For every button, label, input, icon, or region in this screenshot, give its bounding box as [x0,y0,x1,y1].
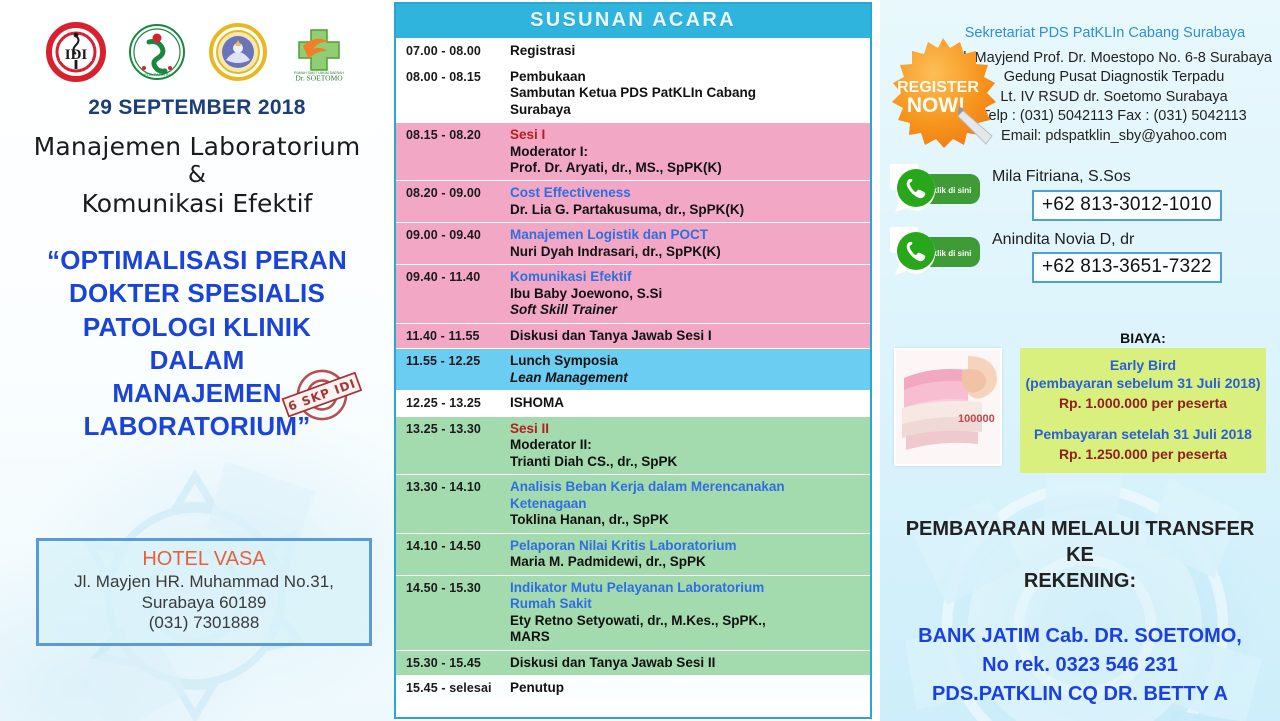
headline-line: DALAM [16,344,378,377]
schedule-line: Nuri Dyah Indrasari, dr., SpPK(K) [510,244,866,260]
event-theme: Manajemen Laboratorium & Komunikasi Efek… [0,132,394,218]
schedule-description: Manajemen Logistik dan POCTNuri Dyah Ind… [510,227,866,260]
whatsapp-badge-label: klik di sini [933,249,972,258]
schedule-table: SUSUNAN ACARA 07.00 - 08.00Registrasi08.… [394,2,872,719]
schedule-time: 15.30 - 15.45 [406,655,510,672]
schedule-line: Rumah Sakit [510,596,866,612]
schedule-line: Ety Retno Setyowati, dr., M.Kes., SpPK., [510,613,866,629]
late-payment-condition: Pembayaran setelah 31 Juli 2018 [1024,425,1262,443]
theme-ampersand: & [0,162,394,188]
fee-section: BIAYA: Early Bird (pembayaran sebelum 31… [1020,330,1266,473]
secretariat-line: Jl. Mayjend Prof. Dr. Moestopo No. 6-8 S… [952,49,1276,68]
schedule-row: 08.15 - 08.20Sesi IModerator I:Prof. Dr.… [396,123,870,181]
idi-logo: IDI [46,22,106,82]
schedule-line: Soft Skill Trainer [510,302,866,318]
schedule-line: Prof. Dr. Aryati, dr., MS., SpPK(K) [510,160,866,176]
schedule-description: Sesi IModerator I:Prof. Dr. Aryati, dr.,… [510,127,866,176]
schedule-line: Trianti Diah CS., dr., SpPK [510,454,866,470]
venue-phone: (031) 7301888 [45,613,363,634]
headline-line: MANAJEMEN [16,377,378,410]
schedule-line: Pembukaan [510,69,866,85]
schedule-line: Sambutan Ketua PDS PatKLIn Cabang [510,85,866,101]
transfer-heading-line-1: PEMBAYARAN MELALUI TRANSFER KE [898,516,1262,568]
schedule-line: Analisis Beban Kerja dalam Merencanakan [510,479,866,495]
schedule-line: Dr. Lia G. Partakusuma, dr., SpPK(K) [510,202,866,218]
schedule-line: Pelaporan Nilai Kritis Laboratorium [510,538,866,554]
schedule-time: 15.45 - selesai [406,680,510,697]
schedule-line: Lean Management [510,370,866,386]
schedule-description: Indikator Mutu Pelayanan LaboratoriumRum… [510,580,866,646]
bank-name: BANK JATIM Cab. DR. SOETOMO, [898,622,1262,651]
schedule-row: 12.25 - 13.25ISHOMA [396,391,870,417]
schedule-description: Diskusi dan Tanya Jawab Sesi I [510,328,866,344]
schedule-description: Lunch SymposiaLean Management [510,353,866,386]
headline-line: “OPTIMALISASI PERAN [16,244,378,277]
schedule-line: Sesi II [510,421,866,437]
schedule-time: 09.40 - 11.40 [406,269,510,286]
secretariat-line: Gedung Pusat Diagnostik Terpadu [952,68,1276,87]
schedule-line: Indikator Mutu Pelayanan Laboratorium [510,580,866,596]
bank-account-holder: PDS.PATKLIN CQ DR. BETTY A [898,680,1262,709]
schedule-row: 14.10 - 14.50Pelaporan Nilai Kritis Labo… [396,534,870,576]
schedule-description: Pelaporan Nilai Kritis LaboratoriumMaria… [510,538,866,571]
banknote-denomination: 100000 [958,413,995,425]
schedule-row: 13.25 - 13.30Sesi IIModerator II:Trianti… [396,417,870,475]
schedule-time: 11.55 - 12.25 [406,353,510,370]
schedule-time: 14.50 - 15.30 [406,580,510,597]
schedule-time: 09.00 - 09.40 [406,227,510,244]
schedule-time: 14.10 - 14.50 [406,538,510,555]
schedule-description: Sesi IIModerator II:Trianti Diah CS., dr… [510,421,866,470]
organizer-logos: IDI PDS PATKLIN [0,0,394,80]
schedule-row: 09.00 - 09.40Manajemen Logistik dan POCT… [396,223,870,265]
venue-box: HOTEL VASA Jl. Mayjen HR. Muhammad No.31… [36,538,372,646]
contact-item[interactable]: klik di sini Anindita Novia D, dr +62 81… [890,227,1280,284]
schedule-description: Penutup [510,680,866,696]
whatsapp-icon[interactable]: klik di sini [890,227,986,279]
soetomo-caption: Dr. SOETOMO [295,74,343,83]
schedule-line: Komunikasi Efektif [510,269,866,285]
schedule-row: 15.45 - selesaiPenutup [396,676,870,702]
schedule-line: Sesi I [510,127,866,143]
venue-address-line-1: Jl. Mayjen HR. Muhammad No.31, [45,572,363,593]
universitas-airlangga-logo [208,22,268,82]
schedule-row: 09.40 - 11.40Komunikasi EfektifIbu Baby … [396,265,870,323]
transfer-section: PEMBAYARAN MELALUI TRANSFER KE REKENING:… [880,516,1280,709]
left-panel: IDI PDS PATKLIN [0,0,394,721]
schedule-panel: SUSUNAN ACARA 07.00 - 08.00Registrasi08.… [394,0,880,721]
theme-line-1: Manajemen Laboratorium [0,132,394,161]
pds-patklin-logo: PDS PATKLIN [127,22,187,82]
schedule-time: 13.25 - 13.30 [406,421,510,438]
schedule-time: 07.00 - 08.00 [406,43,510,60]
whatsapp-badge-label: klik di sini [933,186,972,195]
event-date: 29 SEPTEMBER 2018 [0,96,394,120]
headline-line: LABORATORIUM” [16,410,378,443]
schedule-row: 13.30 - 14.10Analisis Beban Kerja dalam … [396,475,870,533]
schedule-line: Registrasi [510,43,866,59]
schedule-description: ISHOMA [510,395,866,411]
theme-line-2: Komunikasi Efektif [0,189,394,218]
schedule-line: Diskusi dan Tanya Jawab Sesi I [510,328,866,344]
event-headline: “OPTIMALISASI PERAN DOKTER SPESIALIS PAT… [16,244,378,444]
schedule-description: Cost EffectivenessDr. Lia G. Partakusuma… [510,185,866,218]
headline-line: DOKTER SPESIALIS [16,277,378,310]
schedule-line: ISHOMA [510,395,866,411]
late-payment-price: Rp. 1.250.000 per peserta [1024,445,1262,463]
schedule-description: Registrasi [510,43,866,59]
schedule-time: 08.20 - 09.00 [406,185,510,202]
seminar-flyer: IDI PDS PATKLIN [0,0,1280,721]
schedule-row: 11.40 - 11.55Diskusi dan Tanya Jawab Ses… [396,324,870,350]
fee-box: Early Bird (pembayaran sebelum 31 Juli 2… [1020,348,1266,473]
svg-text:PDS PATKLIN: PDS PATKLIN [144,72,170,77]
schedule-time: 11.40 - 11.55 [406,328,510,345]
contact-name: Mila Fitriana, S.Sos [992,168,1222,186]
schedule-line: Toklina Hanan, dr., SpPK [510,512,866,528]
early-bird-condition: (pembayaran sebelum 31 Juli 2018) [1024,374,1262,392]
schedule-line: Surabaya [510,102,866,118]
schedule-row: 08.20 - 09.00Cost EffectivenessDr. Lia G… [396,181,870,223]
banknotes-photo: 100000 [894,348,1002,466]
schedule-line: Ketenagaan [510,496,866,512]
schedule-line: MARS [510,629,866,645]
schedule-row: 07.00 - 08.00Registrasi [396,39,870,65]
schedule-description: Analisis Beban Kerja dalam MerencanakanK… [510,479,866,528]
secretariat-email: Email: pdspatklin_sby@yahoo.com [952,127,1276,146]
schedule-line: Moderator I: [510,144,866,160]
schedule-line: Penutup [510,680,866,696]
contact-phone[interactable]: +62 813-3651-7322 [1032,252,1222,283]
schedule-time: 08.00 - 08.15 [406,69,510,86]
contact-phone[interactable]: +62 813-3012-1010 [1032,190,1222,221]
schedule-time: 08.15 - 08.20 [406,127,510,144]
whatsapp-icon[interactable]: klik di sini [890,164,986,216]
early-bird-label: Early Bird [1024,356,1262,374]
schedule-header: SUSUNAN ACARA [396,4,870,39]
fee-spacer [1024,413,1262,425]
secretariat-line: Lt. IV RSUD dr. Soetomo Surabaya [952,88,1276,107]
schedule-description: Diskusi dan Tanya Jawab Sesi II [510,655,866,671]
schedule-line: Manajemen Logistik dan POCT [510,227,866,243]
schedule-description: Komunikasi EfektifIbu Baby Joewono, S.Si… [510,269,866,318]
secretariat-title: Sekretariat PDS PatKLIn Cabang Surabaya [880,0,1280,41]
schedule-line: Moderator II: [510,437,866,453]
schedule-line: Diskusi dan Tanya Jawab Sesi II [510,655,866,671]
schedule-row: 11.55 - 12.25Lunch SymposiaLean Manageme… [396,349,870,391]
bank-account-number: No rek. 0323 546 231 [898,651,1262,680]
early-bird-price: Rp. 1.000.000 per peserta [1024,394,1262,412]
contact-list: klik di sini Mila Fitriana, S.Sos +62 81… [880,164,1280,283]
schedule-line: Ibu Baby Joewono, S.Si [510,286,866,302]
schedule-row: 08.00 - 08.15PembukaanSambutan Ketua PDS… [396,65,870,123]
schedule-row: 15.30 - 15.45Diskusi dan Tanya Jawab Ses… [396,651,870,677]
transfer-heading-line-2: REKENING: [898,568,1262,594]
rsud-dr-soetomo-logo: RUMAH SAKIT UMUM DAERAH Dr. SOETOMO [289,22,349,82]
venue-name: HOTEL VASA [45,548,363,571]
schedule-row: 14.50 - 15.30Indikator Mutu Pelayanan La… [396,576,870,651]
schedule-line: Maria M. Padmidewi, dr., SpPK [510,554,866,570]
schedule-time: 12.25 - 13.25 [406,395,510,412]
register-now-badge[interactable]: REGISTER NOW! [888,36,998,154]
headline-line: PATOLOGI KLINIK [16,311,378,344]
secretariat-line: Telp : (031) 5042113 Fax : (031) 5042113 [952,107,1276,126]
contact-name: Anindita Novia D, dr [992,231,1222,249]
schedule-rows: 07.00 - 08.00Registrasi08.00 - 08.15Pemb… [396,39,870,717]
register-badge-line-2: NOW! [907,94,965,117]
schedule-line: Cost Effectiveness [510,185,866,201]
right-panel: Sekretariat PDS PatKLIn Cabang Surabaya … [880,0,1280,721]
contact-item[interactable]: klik di sini Mila Fitriana, S.Sos +62 81… [890,164,1280,221]
schedule-time: 13.30 - 14.10 [406,479,510,496]
schedule-line: Lunch Symposia [510,353,866,369]
venue-address-line-2: Surabaya 60189 [45,593,363,614]
schedule-description: PembukaanSambutan Ketua PDS PatKLIn Caba… [510,69,866,118]
fee-title: BIAYA: [1020,330,1266,346]
bank-details: BANK JATIM Cab. DR. SOETOMO, No rek. 032… [898,622,1262,709]
